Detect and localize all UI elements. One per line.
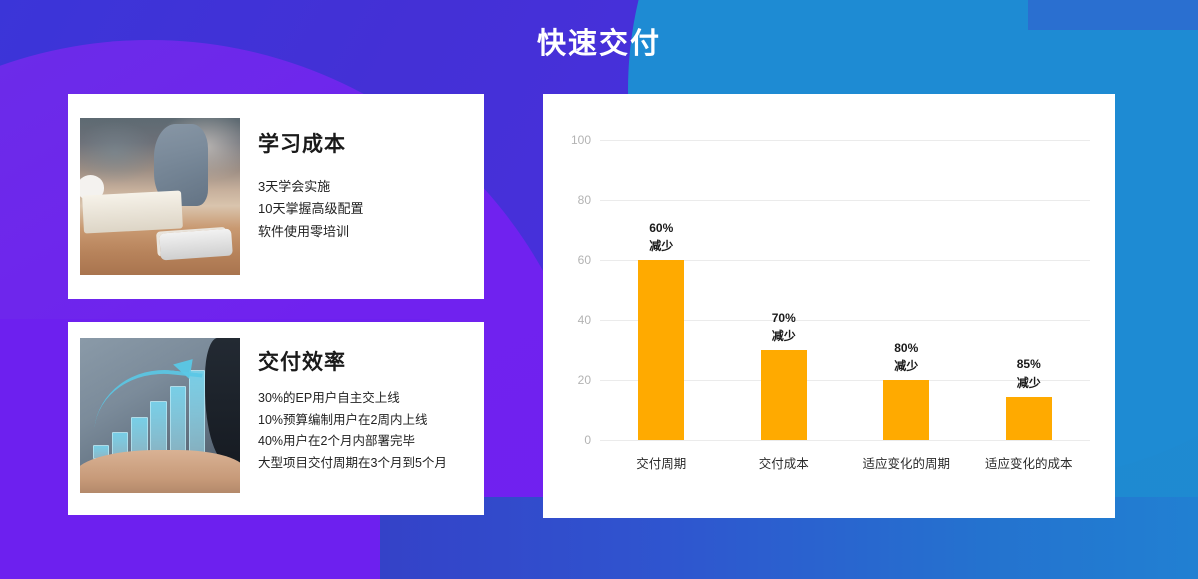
card-learning-cost: 学习成本 3天学会实施 10天掌握高级配置 软件使用零培训	[68, 94, 484, 299]
chart-y-tick-label: 20	[578, 373, 591, 387]
learning-cost-lines: 3天学会实施 10天掌握高级配置 软件使用零培训	[258, 176, 474, 243]
chart-bar-column[interactable]: 60%减少	[600, 140, 723, 440]
list-item: 10%预算编制用户在2周内上线	[258, 410, 474, 432]
learning-cost-title: 学习成本	[258, 128, 474, 158]
bar-chart-panel: 10080604020060%减少70%减少80%减少85%减少 交付周期交付成…	[543, 94, 1115, 518]
slide-root: 快速交付 学习成本 3天学会实施 10天掌握高级配置 软件使用零培训	[0, 0, 1198, 579]
chart-data-label-word: 减少	[772, 327, 796, 346]
list-item: 10天掌握高级配置	[258, 198, 474, 220]
chart-y-tick-label: 100	[571, 133, 591, 147]
book-shape	[82, 191, 183, 234]
chart-data-label: 80%减少	[894, 339, 918, 376]
list-item: 软件使用零培训	[258, 221, 474, 243]
list-item: 3天学会实施	[258, 176, 474, 198]
delivery-efficiency-body: 交付效率 30%的EP用户自主交上线 10%预算编制用户在2周内上线 40%用户…	[240, 322, 484, 474]
list-item: 大型项目交付周期在3个月到5个月	[258, 453, 474, 475]
chart-data-label-percent: 70%	[772, 309, 796, 328]
list-item: 40%用户在2个月内部署完毕	[258, 431, 474, 453]
chart-bar[interactable]	[761, 350, 807, 440]
chart-y-tick-label: 40	[578, 313, 591, 327]
chart-plot-area: 10080604020060%减少70%减少80%减少85%减少	[600, 140, 1090, 440]
card-delivery-efficiency: 交付效率 30%的EP用户自主交上线 10%预算编制用户在2周内上线 40%用户…	[68, 322, 484, 515]
learning-cost-image	[80, 118, 240, 275]
chart-x-tick-label: 交付周期	[600, 453, 723, 472]
person-writing-notebook-photo	[80, 118, 240, 275]
hand-shape	[80, 450, 240, 493]
chart-bar-column[interactable]: 80%减少	[845, 140, 968, 440]
suit-shape	[205, 338, 240, 465]
chart-gridline: 0	[600, 440, 1090, 441]
chart-y-tick-label: 0	[584, 433, 591, 447]
chart-data-label: 85%减少	[1017, 355, 1041, 392]
delivery-efficiency-image	[80, 338, 240, 493]
chart-data-label-percent: 60%	[649, 219, 673, 238]
chart-bar-column[interactable]: 85%减少	[968, 140, 1091, 440]
hand-holding-growth-bars-photo	[80, 338, 240, 493]
chart-bar[interactable]	[638, 260, 684, 440]
delivery-efficiency-title: 交付效率	[258, 346, 474, 376]
chart-data-label: 60%减少	[649, 219, 673, 256]
chart-data-label-percent: 80%	[894, 339, 918, 358]
chart-x-tick-label: 适应变化的周期	[845, 453, 968, 472]
chart-x-tick-label: 交付成本	[723, 453, 846, 472]
chart-bar-column[interactable]: 70%减少	[723, 140, 846, 440]
chart-y-tick-label: 60	[578, 253, 591, 267]
chart-bar[interactable]	[1006, 397, 1052, 441]
learning-cost-body: 学习成本 3天学会实施 10天掌握高级配置 软件使用零培训	[240, 94, 484, 243]
delivery-efficiency-lines: 30%的EP用户自主交上线 10%预算编制用户在2周内上线 40%用户在2个月内…	[258, 388, 474, 474]
chart-data-label-percent: 85%	[1017, 355, 1041, 374]
chart-y-tick-label: 80	[578, 193, 591, 207]
page-title: 快速交付	[0, 20, 1198, 62]
chart-data-label: 70%减少	[772, 309, 796, 346]
chart-data-label-word: 减少	[894, 357, 918, 376]
chart-bars: 60%减少70%减少80%减少85%减少	[600, 140, 1090, 440]
list-item: 30%的EP用户自主交上线	[258, 388, 474, 410]
chart-x-axis: 交付周期交付成本适应变化的周期适应变化的成本	[600, 453, 1090, 472]
chart-bar[interactable]	[883, 380, 929, 440]
chart-x-tick-label: 适应变化的成本	[968, 453, 1091, 472]
chart-data-label-word: 减少	[1017, 374, 1041, 393]
chart-data-label-word: 减少	[649, 237, 673, 256]
